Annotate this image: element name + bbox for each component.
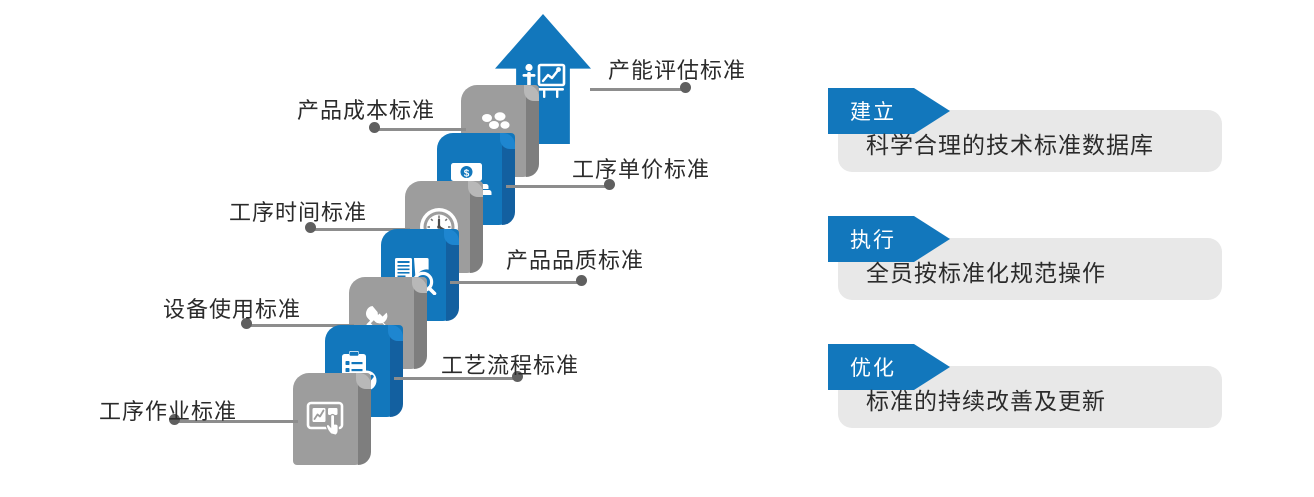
card-tab-label: 优化 (850, 352, 896, 382)
connector-line-capacity (590, 88, 682, 91)
step-label-product-cost: 产品成本标准 (297, 93, 435, 125)
step-label-unit-price: 工序单价标准 (572, 152, 710, 184)
tablet-hand-icon (293, 373, 361, 465)
connector-line-unit-price (506, 185, 606, 188)
connector-line-product-cost (374, 128, 466, 131)
step-label-operation-standard: 工序作业标准 (99, 394, 237, 426)
svg-text:$: $ (464, 169, 470, 180)
card-tab-label: 执行 (850, 224, 896, 254)
step-label-equipment-usage: 设备使用标准 (163, 292, 301, 324)
card-text-optimize: 标准的持续改善及更新 (866, 382, 1106, 416)
step-label-process-flow: 工艺流程标准 (441, 348, 579, 380)
staircase-group: 产能评估标准 产品成本标准 (0, 0, 820, 497)
step-label-process-time: 工序时间标准 (229, 195, 367, 227)
panel-cards: 建立 科学合理的技术标准数据库 执行 全员按标准化规范操作 优化 标准的持续改善… (828, 0, 1248, 497)
step-label-capacity: 产能评估标准 (608, 53, 746, 85)
connector-line-product-quality (450, 281, 578, 284)
connector-dot-product-quality (576, 275, 587, 286)
card-text-establish: 科学合理的技术标准数据库 (866, 126, 1154, 160)
diagram-canvas: 产能评估标准 产品成本标准 (0, 0, 1314, 497)
card-tab-label: 建立 (850, 96, 896, 126)
step-label-product-quality: 产品品质标准 (506, 243, 644, 275)
step-tile-operation-standard[interactable] (293, 373, 371, 465)
card-text-execute: 全员按标准化规范操作 (866, 254, 1106, 288)
